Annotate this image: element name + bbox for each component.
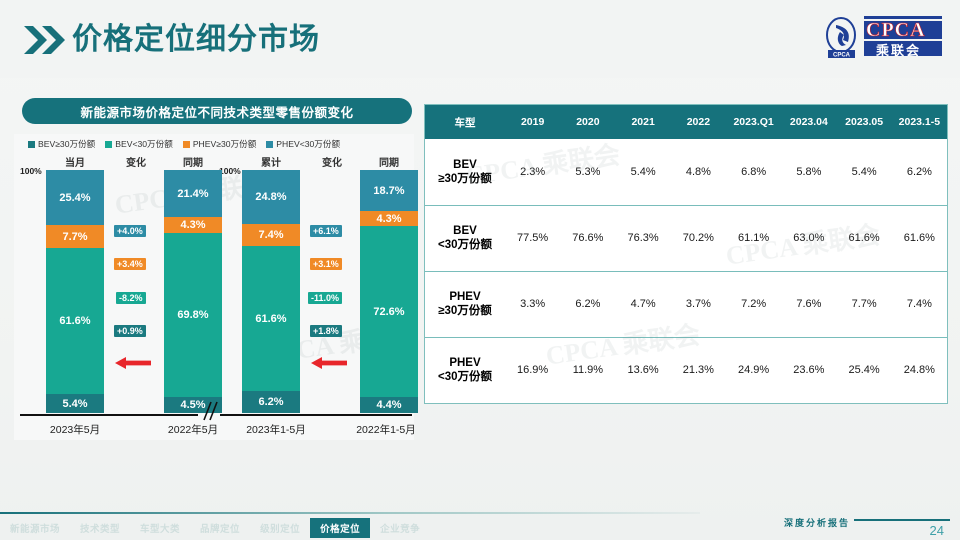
table-row: PHEV ≥30万份额 3.3% 6.2% 4.7% 3.7% 7.2% 7.6… [425, 271, 947, 337]
legend-item-phev-lt[interactable]: PHEV<30万份额 [266, 138, 340, 150]
col-header-2023-05[interactable]: 2023.05 [837, 105, 892, 139]
slide-header: 价格定位细分市场 CPCA CPCA 乘联会 [0, 0, 960, 78]
x-label-2022-05: 2022年5月 [150, 422, 236, 437]
cell: 61.6% [837, 205, 892, 271]
data-table-panel: CPCA 乘联会 CPCA 乘联会 CPCA 乘联会 车型 2019 2020 … [424, 104, 948, 404]
left-arrow-icon [115, 356, 151, 375]
bar-segment-phev-ge: 7.4% [242, 224, 300, 246]
row-header-bev-ge: BEV ≥30万份额 [425, 139, 505, 205]
cell: 3.7% [671, 271, 726, 337]
cell: 6.2% [560, 271, 615, 337]
change-label-bev-lt-1: -8.2% [116, 292, 146, 304]
table-header-row: 车型 2019 2020 2021 2022 2023.Q1 2023.04 2… [425, 105, 947, 139]
legend-swatch-icon [28, 141, 35, 148]
chart-area: CPCA 乘联会 CPCA 乘联会 BEV≥30万份额 BEV<30万份额 PH… [14, 134, 414, 440]
cell: 7.2% [726, 271, 781, 337]
cpca-logo-text: CPCA 乘联会 [860, 14, 944, 58]
row-label-top: PHEV [425, 290, 505, 304]
change-label-phev-lt-2: +6.1% [310, 225, 342, 237]
cell: 6.2% [892, 139, 947, 205]
section-nav: 新能源市场 技术类型 车型大类 品牌定位 级别定位 价格定位 企业竞争 [0, 518, 430, 538]
chart-panel: 新能源市场价格定位不同技术类型零售份额变化 CPCA 乘联会 CPCA 乘联会 … [14, 88, 414, 440]
legend-label: BEV≥30万份额 [38, 138, 95, 150]
row-label-bottom: ≥30万份额 [425, 172, 505, 186]
bar-2023-1-5[interactable]: 24.8% 7.4% 61.6% 6.2% [242, 170, 300, 413]
bar-segment-phev-ge: 4.3% [360, 211, 418, 226]
footer-divider [0, 512, 700, 514]
double-chevron-right-icon [24, 24, 68, 56]
cpca-logo: CPCA CPCA 乘联会 [826, 12, 946, 60]
bar-2022-1-5[interactable]: 18.7% 4.3% 72.6% 4.4% [360, 170, 418, 413]
nav-tab-price-pos[interactable]: 价格定位 [310, 518, 370, 538]
change-label-bev-ge-2: +1.8% [310, 325, 342, 337]
cell: 4.7% [616, 271, 671, 337]
slide-root: 价格定位细分市场 CPCA CPCA 乘联会 新能源市场价格定 [0, 0, 960, 540]
cell: 63.0% [781, 205, 836, 271]
row-label-top: BEV [425, 224, 505, 238]
bar-segment-bev-lt: 72.6% [360, 226, 418, 397]
chart-title: 新能源市场价格定位不同技术类型零售份额变化 [22, 98, 412, 124]
legend-item-bev-lt[interactable]: BEV<30万份额 [105, 138, 173, 150]
nav-tab-competition[interactable]: 企业竞争 [370, 518, 430, 538]
change-label-phev-lt-1: +4.0% [114, 225, 146, 237]
change-label-bev-ge-1: +0.9% [114, 325, 146, 337]
axis-max-label-right: 100% [219, 166, 241, 176]
legend-item-phev-ge[interactable]: PHEV≥30万份额 [183, 138, 256, 150]
table-row: BEV <30万份额 77.5% 76.6% 76.3% 70.2% 61.1%… [425, 205, 947, 271]
col-head-same-period-1: 同期 [164, 154, 222, 169]
bar-segment-bev-lt: 61.6% [46, 248, 104, 394]
bar-segment-bev-ge: 4.4% [360, 397, 418, 413]
col-head-same-period-2: 同期 [360, 154, 418, 169]
cell: 25.4% [837, 337, 892, 403]
bar-segment-bev-ge: 5.4% [46, 394, 104, 413]
cpca-brand-text: CPCA [866, 19, 926, 42]
cell: 6.8% [726, 139, 781, 205]
nav-tab-tech-type[interactable]: 技术类型 [70, 518, 130, 538]
bar-2022-05[interactable]: 21.4% 4.3% 69.8% 4.5% [164, 170, 222, 413]
chart-legend: BEV≥30万份额 BEV<30万份额 PHEV≥30万份额 PHEV<30万份… [28, 138, 416, 150]
legend-swatch-icon [183, 141, 190, 148]
bar-2023-05[interactable]: 25.4% 7.7% 61.6% 5.4% [46, 170, 104, 413]
bar-segment-phev-ge: 7.7% [46, 225, 104, 248]
cell: 13.6% [616, 337, 671, 403]
left-arrow-icon [311, 356, 347, 375]
col-head-change-1: 变化 [110, 154, 162, 169]
cell: 21.3% [671, 337, 726, 403]
cell: 5.4% [616, 139, 671, 205]
legend-label: PHEV<30万份额 [276, 138, 340, 150]
axis-baseline-right [220, 414, 412, 416]
axis-max-label-left: 100% [20, 166, 42, 176]
col-header-2020[interactable]: 2020 [560, 105, 615, 139]
cell: 76.3% [616, 205, 671, 271]
cell: 24.9% [726, 337, 781, 403]
nav-tab-nev-market[interactable]: 新能源市场 [0, 518, 70, 538]
bar-segment-phev-lt: 25.4% [46, 170, 104, 225]
svg-text:CPCA: CPCA [833, 53, 851, 59]
col-header-model[interactable]: 车型 [425, 105, 505, 139]
cell: 77.5% [505, 205, 560, 271]
bar-segment-bev-lt: 61.6% [242, 246, 300, 391]
row-label-bottom: <30万份额 [425, 238, 505, 252]
row-header-phev-lt: PHEV <30万份额 [425, 337, 505, 403]
row-label-top: BEV [425, 158, 505, 172]
cell: 5.8% [781, 139, 836, 205]
bar-segment-phev-lt: 21.4% [164, 170, 222, 217]
legend-label: BEV<30万份额 [115, 138, 173, 150]
cell: 7.7% [837, 271, 892, 337]
nav-tab-segment-pos[interactable]: 级别定位 [250, 518, 310, 538]
cell: 11.9% [560, 337, 615, 403]
bar-segment-bev-ge: 6.2% [242, 391, 300, 413]
nav-tab-brand-pos[interactable]: 品牌定位 [190, 518, 250, 538]
row-header-phev-ge: PHEV ≥30万份额 [425, 271, 505, 337]
page-title: 价格定位细分市场 [72, 20, 320, 60]
cell: 2.3% [505, 139, 560, 205]
bar-segment-bev-lt: 69.8% [164, 233, 222, 397]
nav-tab-model-class[interactable]: 车型大类 [130, 518, 190, 538]
page-number: 24 [930, 523, 944, 538]
x-label-2023-1-5: 2023年1-5月 [226, 422, 326, 437]
legend-swatch-icon [266, 141, 273, 148]
change-label-phev-ge-2: +3.1% [310, 258, 342, 270]
cell: 7.4% [892, 271, 947, 337]
cpca-brand-text-cn: 乘联会 [876, 40, 921, 59]
legend-swatch-icon [105, 141, 112, 148]
row-label-bottom: <30万份额 [425, 370, 505, 384]
change-label-phev-ge-1: +3.4% [114, 258, 146, 270]
row-label-bottom: ≥30万份额 [425, 304, 505, 318]
cell: 61.1% [726, 205, 781, 271]
cpca-swoosh-icon: CPCA [826, 16, 860, 56]
cell: 61.6% [892, 205, 947, 271]
cell: 70.2% [671, 205, 726, 271]
cell: 23.6% [781, 337, 836, 403]
col-header-2023-04[interactable]: 2023.04 [781, 105, 836, 139]
row-header-bev-lt: BEV <30万份额 [425, 205, 505, 271]
x-label-2022-1-5: 2022年1-5月 [336, 422, 436, 437]
table-row: PHEV <30万份额 16.9% 11.9% 13.6% 21.3% 24.9… [425, 337, 947, 403]
col-head-change-2: 变化 [306, 154, 358, 169]
footer-rule [854, 519, 950, 521]
table-row: BEV ≥30万份额 2.3% 5.3% 5.4% 4.8% 6.8% 5.8%… [425, 139, 947, 205]
bar-segment-phev-lt: 24.8% [242, 170, 300, 224]
col-header-2021[interactable]: 2021 [616, 105, 671, 139]
footer-note: 深度分析报告 [784, 516, 850, 529]
col-head-cumulative: 累计 [242, 154, 300, 169]
cell: 24.8% [892, 337, 947, 403]
axis-baseline-left [20, 414, 198, 416]
col-header-2023-q1[interactable]: 2023.Q1 [726, 105, 781, 139]
col-header-2022[interactable]: 2022 [671, 105, 726, 139]
legend-item-bev-ge[interactable]: BEV≥30万份额 [28, 138, 95, 150]
cell: 4.8% [671, 139, 726, 205]
cell: 5.3% [560, 139, 615, 205]
col-header-2023-1-5[interactable]: 2023.1-5 [892, 105, 947, 139]
cell: 5.4% [837, 139, 892, 205]
bar-segment-phev-ge: 4.3% [164, 217, 222, 233]
x-label-2023-05: 2023年5月 [32, 422, 118, 437]
col-head-current-month: 当月 [46, 154, 104, 169]
legend-label: PHEV≥30万份额 [193, 138, 256, 150]
cell: 76.6% [560, 205, 615, 271]
col-header-2019[interactable]: 2019 [505, 105, 560, 139]
cell: 16.9% [505, 337, 560, 403]
change-label-bev-lt-2: -11.0% [308, 292, 342, 304]
slide-footer: 新能源市场 技术类型 车型大类 品牌定位 级别定位 价格定位 企业竞争 深度分析… [0, 510, 960, 540]
cell: 3.3% [505, 271, 560, 337]
bar-segment-phev-lt: 18.7% [360, 170, 418, 211]
share-data-table: 车型 2019 2020 2021 2022 2023.Q1 2023.04 2… [425, 105, 947, 403]
cell: 7.6% [781, 271, 836, 337]
row-label-top: PHEV [425, 356, 505, 370]
